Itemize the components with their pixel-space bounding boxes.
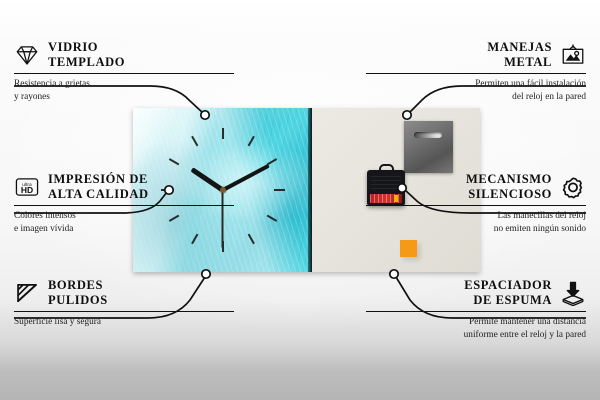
feature-divider xyxy=(14,73,234,75)
feature-title-line2: PULIDOS xyxy=(48,293,108,308)
ultra-hd-icon: ultra HD xyxy=(14,174,40,200)
feature-desc-line1: Permiten una fácil instalación xyxy=(366,78,586,91)
feature-desc-line1: Colores intensos xyxy=(14,210,234,223)
ultra-hd-icon-big-text: HD xyxy=(21,185,33,195)
metal-hanger-plate xyxy=(404,121,453,173)
gear-icon xyxy=(560,174,586,200)
feature-title-line2: METAL xyxy=(487,55,552,70)
feature-desc-line2: uniforme entre el reloj y la pared xyxy=(366,329,586,342)
feature-desc-line2: no emiten ningún sonido xyxy=(366,223,586,236)
feature-polished-edges: BORDES PULIDOS Superficie lisa y segura xyxy=(14,278,234,329)
feature-title-line1: VIDRIO xyxy=(48,40,125,55)
feature-divider xyxy=(14,205,234,207)
diamond-icon xyxy=(14,42,40,68)
infographic-canvas: VIDRIO TEMPLADO Resistencia a grietas y … xyxy=(0,0,600,400)
feature-desc-line1: Permite mantener una distancia xyxy=(366,316,586,329)
feature-title-line2: SILENCIOSO xyxy=(466,187,552,202)
feature-title-line1: BORDES xyxy=(48,278,108,293)
feature-desc-line2: e imagen vívida xyxy=(14,223,234,236)
feature-desc-line1: Superficie lisa y segura xyxy=(14,316,234,329)
feature-divider xyxy=(14,311,234,313)
feature-desc-line2: y rayones xyxy=(14,91,234,104)
feature-tempered-glass: VIDRIO TEMPLADO Resistencia a grietas y … xyxy=(14,40,234,103)
framed-picture-icon xyxy=(560,42,586,68)
feature-desc-line1: Resistencia a grietas xyxy=(14,78,234,91)
feature-title-line1: IMPRESIÓN DE xyxy=(48,172,149,187)
feature-title-line2: TEMPLADO xyxy=(48,55,125,70)
arrow-down-pad-icon xyxy=(560,280,586,306)
feature-title-line2: DE ESPUMA xyxy=(464,293,552,308)
feature-title-line2: ALTA CALIDAD xyxy=(48,187,149,202)
hanger-slot xyxy=(414,132,442,138)
feature-divider xyxy=(366,73,586,75)
feature-title-line1: MECANISMO xyxy=(466,172,552,187)
feature-title-line1: MANEJAS xyxy=(487,40,552,55)
foam-spacer-square xyxy=(400,240,417,257)
feature-silent-mechanism: MECANISMO SILENCIOSO Las manecillas del … xyxy=(366,172,586,235)
feature-title-line1: ESPACIADOR xyxy=(464,278,552,293)
feature-divider xyxy=(366,311,586,313)
feature-desc-line2: del reloj en la pared xyxy=(366,91,586,104)
feature-foam-spacer: ESPACIADOR DE ESPUMA Permite mantener un… xyxy=(366,278,586,341)
feature-high-quality-print: ultra HD IMPRESIÓN DE ALTA CALIDAD Color… xyxy=(14,172,234,235)
diagonal-lines-icon xyxy=(14,280,40,306)
feature-divider xyxy=(366,205,586,207)
feature-metal-handles: MANEJAS METAL Permiten una fácil instala… xyxy=(366,40,586,103)
feature-desc-line1: Las manecillas del reloj xyxy=(366,210,586,223)
